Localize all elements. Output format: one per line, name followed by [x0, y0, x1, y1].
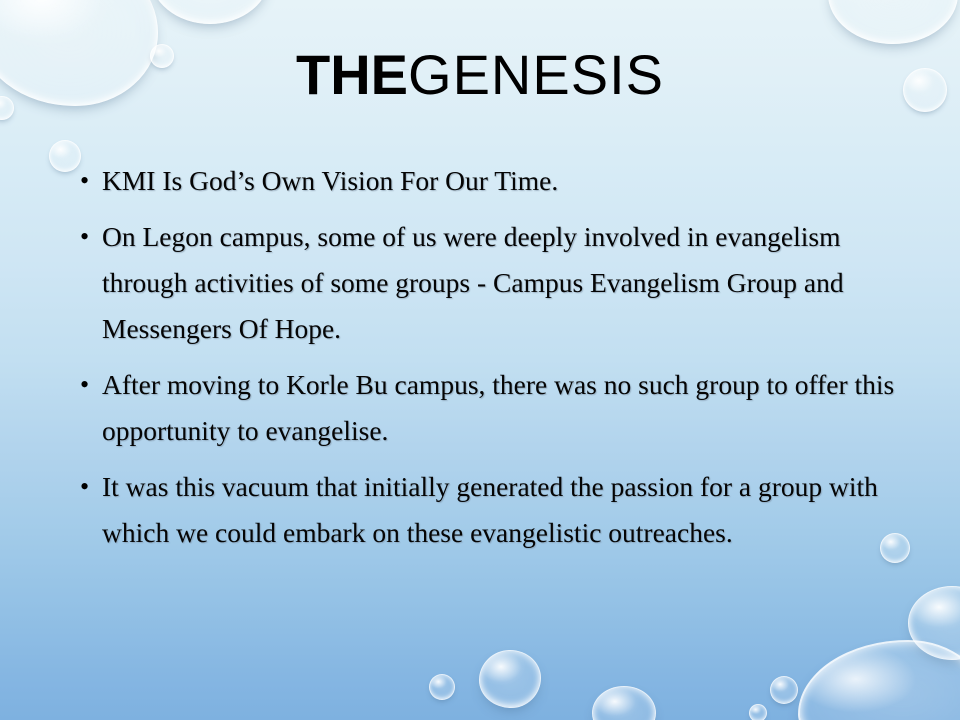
slide-title: THEGENESIS: [0, 44, 960, 106]
presentation-slide: THEGENESIS • KMI Is God’s Own Vision For…: [0, 0, 960, 720]
slide-body: • KMI Is God’s Own Vision For Our Time. …: [74, 158, 910, 566]
bullet-text: It was this vacuum that initially genera…: [102, 464, 910, 556]
bullet-point-icon: •: [74, 214, 102, 260]
bullet-text: KMI Is God’s Own Vision For Our Time.: [102, 158, 910, 204]
bullet-point-icon: •: [74, 362, 102, 408]
bubble-icon-small-bottom-left: [429, 674, 455, 700]
bubble-icon-small-bottom-center: [770, 676, 798, 704]
slide-title-light: GENESIS: [408, 43, 664, 106]
list-item: • After moving to Korle Bu campus, there…: [74, 362, 910, 454]
bullet-text: After moving to Korle Bu campus, there w…: [102, 362, 910, 454]
slide-title-bold: THE: [296, 43, 408, 106]
list-item: • On Legon campus, some of us were deepl…: [74, 214, 910, 352]
bubble-icon-large-merged-bottom-right: [798, 640, 960, 720]
bullet-point-icon: •: [74, 158, 102, 204]
bullet-text: On Legon campus, some of us were deeply …: [102, 214, 910, 352]
list-item: • KMI Is God’s Own Vision For Our Time.: [74, 158, 910, 204]
bubble-icon-bottom-right-upper: [908, 586, 960, 660]
bubble-icon-bottom-center: [592, 686, 656, 720]
bubble-icon-bottom-left-medium: [479, 650, 541, 708]
bubble-icon-top-right: [828, 0, 958, 44]
bubble-icon-top-center: [150, 0, 270, 24]
list-item: • It was this vacuum that initially gene…: [74, 464, 910, 556]
bubble-icon-xsmall-bottom-center: [749, 704, 767, 720]
bullet-point-icon: •: [74, 464, 102, 510]
